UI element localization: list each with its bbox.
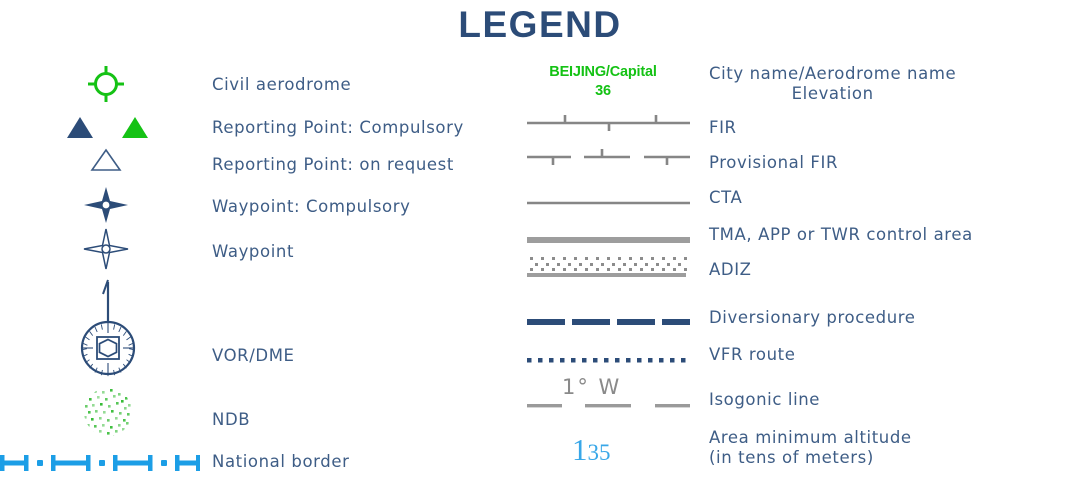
legend-label-cta: CTA <box>709 188 742 207</box>
legend-label-provisional-fir: Provisional FIR <box>709 153 838 172</box>
legend-label-area-minimum-altitude: Area minimum altitude (in tens of meters… <box>709 428 912 468</box>
ama-value-small: 35 <box>588 440 611 465</box>
elevation-value: 36 <box>528 82 678 101</box>
fir-line-sample <box>527 110 690 136</box>
isogonic-value: 1° W <box>562 375 621 399</box>
reporting-point-on-request-icon <box>88 148 124 176</box>
diversionary-procedure-sample <box>527 313 690 332</box>
cta-line-sample <box>527 192 690 211</box>
city-aerodrome-name-sample: BEIJING/Capital 36 <box>528 63 678 101</box>
tma-band-sample <box>527 231 690 250</box>
city-name-text: BEIJING/Capital <box>528 63 678 82</box>
legend-label-national-border: National border <box>212 452 349 471</box>
legend-label-ama-line1: Area minimum altitude <box>709 428 912 448</box>
civil-aerodrome-icon <box>86 64 126 108</box>
legend-panel: LEGEND <box>0 0 1080 484</box>
legend-label-reporting-point-on-request: Reporting Point: on request <box>212 155 454 174</box>
legend-label-reporting-point-compulsory: Reporting Point: Compulsory <box>212 118 464 137</box>
legend-label-adiz: ADIZ <box>709 260 752 279</box>
legend-label-city-aerodrome-name-line1: City name/Aerodrome name <box>709 64 956 84</box>
vor-dme-icon <box>70 278 146 382</box>
national-border-icon <box>0 452 200 478</box>
ama-value-big: 1 <box>572 432 588 467</box>
legend-label-tma: TMA, APP or TWR control area <box>709 225 973 244</box>
waypoint-compulsory-icon <box>83 186 129 228</box>
legend-label-waypoint-compulsory: Waypoint: Compulsory <box>212 197 410 216</box>
legend-label-civil-aerodrome: Civil aerodrome <box>212 75 351 94</box>
reporting-point-compulsory-icon <box>64 115 164 143</box>
legend-label-vor-dme: VOR/DME <box>212 346 295 365</box>
ndb-icon <box>82 386 134 442</box>
legend-label-diversionary: Diversionary procedure <box>709 308 916 327</box>
legend-label-fir: FIR <box>709 118 737 137</box>
legend-label-isogonic-line: Isogonic line <box>709 390 820 409</box>
legend-label-elevation-line2: Elevation <box>709 84 956 104</box>
page-title: LEGEND <box>0 4 1080 46</box>
vfr-route-sample <box>527 350 690 369</box>
legend-label-vfr-route: VFR route <box>709 345 795 364</box>
adiz-band-sample <box>527 256 690 282</box>
legend-label-city-aerodrome-name: City name/Aerodrome name Elevation <box>709 64 956 104</box>
legend-label-waypoint: Waypoint <box>212 242 294 261</box>
legend-label-ama-line2: (in tens of meters) <box>709 448 912 468</box>
provisional-fir-line-sample <box>527 145 690 173</box>
area-minimum-altitude-sample: 135 <box>572 432 611 468</box>
legend-label-ndb: NDB <box>212 410 250 429</box>
waypoint-icon <box>83 228 129 274</box>
